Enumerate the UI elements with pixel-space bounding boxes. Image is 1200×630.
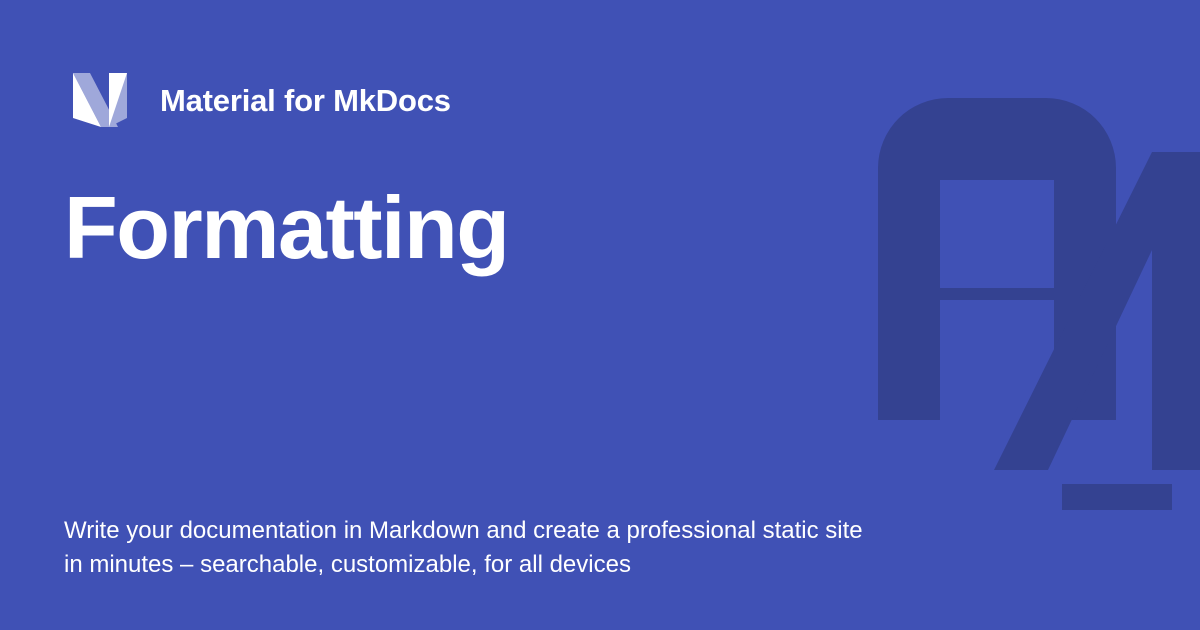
glyph-letter-a-small-guide xyxy=(1048,190,1200,520)
glyph-letter-a-small-stem xyxy=(994,152,1200,470)
material-for-mkdocs-logo-icon xyxy=(64,64,136,136)
page-title: Formatting xyxy=(64,182,884,274)
site-name: Material for MkDocs xyxy=(160,85,451,116)
page-description: Write your documentation in Markdown and… xyxy=(64,514,884,582)
glyph-letter-a-large xyxy=(878,98,1116,420)
header: Material for MkDocs xyxy=(64,64,451,136)
social-card: Material for MkDocs Formatting Write you… xyxy=(0,0,1200,630)
glyph-letter-a-small-bar xyxy=(1062,484,1172,510)
